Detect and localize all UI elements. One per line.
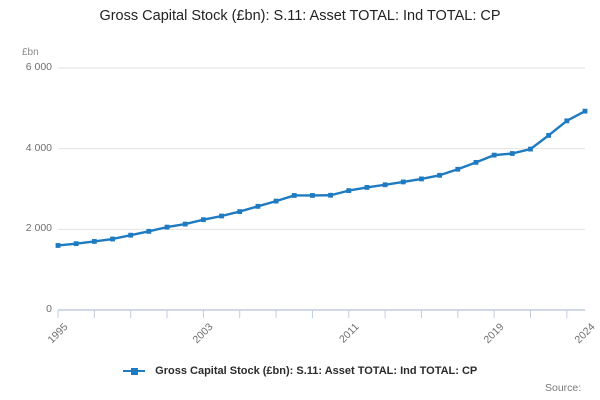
data-point-marker[interactable] [219, 214, 224, 219]
legend-line-marker-icon [123, 366, 145, 376]
data-point-marker[interactable] [546, 133, 551, 138]
data-point-marker[interactable] [274, 199, 279, 204]
data-point-marker[interactable] [383, 182, 388, 187]
data-point-marker[interactable] [255, 204, 260, 209]
data-point-marker[interactable] [510, 151, 515, 156]
y-axis-tick-label: 0 [6, 303, 52, 315]
y-axis-tick-label: 4 000 [6, 142, 52, 154]
data-point-marker[interactable] [146, 229, 151, 234]
chart-legend: Gross Capital Stock (£bn): S.11: Asset T… [0, 362, 600, 380]
data-point-marker[interactable] [201, 217, 206, 222]
data-point-marker[interactable] [583, 109, 588, 114]
data-point-marker[interactable] [528, 147, 533, 152]
gridlines [58, 68, 585, 310]
data-point-marker[interactable] [437, 173, 442, 178]
data-point-marker[interactable] [328, 193, 333, 198]
plot-area [0, 0, 600, 400]
legend-item[interactable]: Gross Capital Stock (£bn): S.11: Asset T… [123, 362, 478, 380]
legend-item-label: Gross Capital Stock (£bn): S.11: Asset T… [155, 365, 477, 377]
data-point-marker[interactable] [310, 193, 315, 198]
series-path [58, 111, 585, 245]
y-axis-tick-label: 6 000 [6, 61, 52, 73]
data-point-marker[interactable] [292, 193, 297, 198]
data-point-marker[interactable] [474, 160, 479, 165]
x-axis-ticks [58, 310, 567, 318]
y-axis-tick-label: 2 000 [6, 222, 52, 234]
data-point-marker[interactable] [165, 225, 170, 230]
data-point-marker[interactable] [419, 177, 424, 182]
data-point-marker[interactable] [365, 185, 370, 190]
data-point-marker[interactable] [56, 243, 61, 248]
source-label: Source: [545, 382, 581, 394]
data-point-marker[interactable] [346, 188, 351, 193]
data-point-marker[interactable] [183, 222, 188, 227]
data-point-marker[interactable] [492, 153, 497, 158]
data-point-marker[interactable] [564, 118, 569, 123]
data-point-marker[interactable] [237, 209, 242, 214]
data-point-marker[interactable] [455, 167, 460, 172]
data-point-marker[interactable] [110, 237, 115, 242]
data-point-marker[interactable] [128, 233, 133, 238]
data-point-marker[interactable] [92, 239, 97, 244]
data-point-marker[interactable] [401, 180, 406, 185]
data-point-marker[interactable] [74, 241, 79, 246]
chart-container: Gross Capital Stock (£bn): S.11: Asset T… [0, 0, 600, 400]
data-series-line[interactable] [56, 109, 588, 248]
